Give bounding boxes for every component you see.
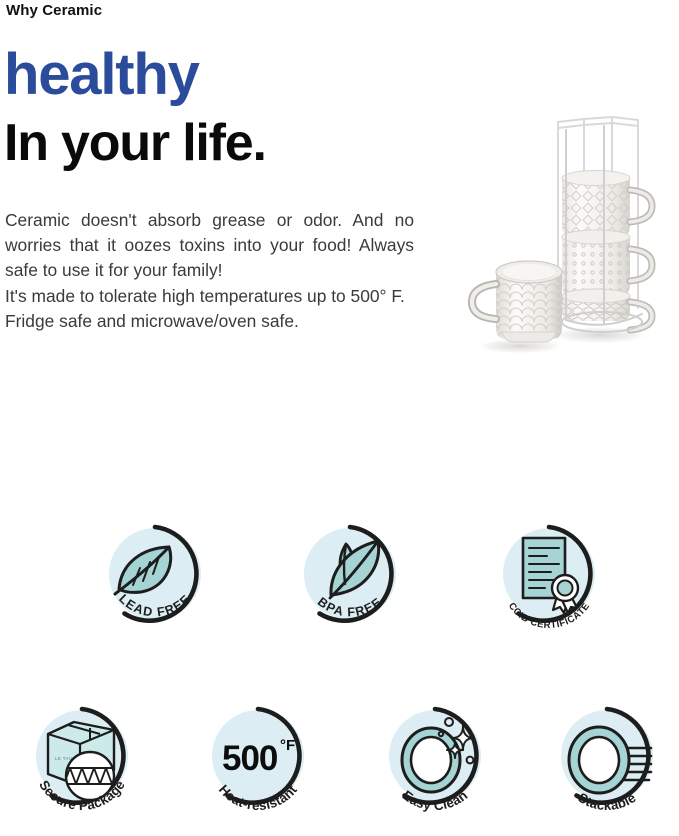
badge-heat-resistant: 500 °F Heat-resistant xyxy=(198,698,318,818)
badge-stackable: Stackable xyxy=(547,698,667,818)
page-title: In your life. xyxy=(4,114,266,172)
badge-lead-free: LEAD FREE xyxy=(95,516,215,636)
page-kicker: Why Ceramic xyxy=(6,1,102,21)
badge-easy-clean: Easy Clean xyxy=(375,698,495,818)
temperature-value: 500 xyxy=(222,739,278,778)
award-seal-icon xyxy=(552,575,578,613)
badge-bpa-free: BPA FREE xyxy=(290,516,410,636)
body-paragraph-2: It's made to tolerate high temperatures … xyxy=(5,284,414,334)
headline-accent: healthy xyxy=(4,44,199,106)
body-copy: Ceramic doesn't absorb grease or odor. A… xyxy=(5,208,414,334)
badge-secure-package: LE TAUKI Secure Package xyxy=(22,698,142,818)
body-paragraph-1: Ceramic doesn't absorb grease or odor. A… xyxy=(5,208,414,284)
badge-ccib-certificate: CCIB CERTIFICATE xyxy=(489,516,609,636)
temperature-unit: °F xyxy=(280,737,295,754)
product-photo xyxy=(462,106,672,358)
